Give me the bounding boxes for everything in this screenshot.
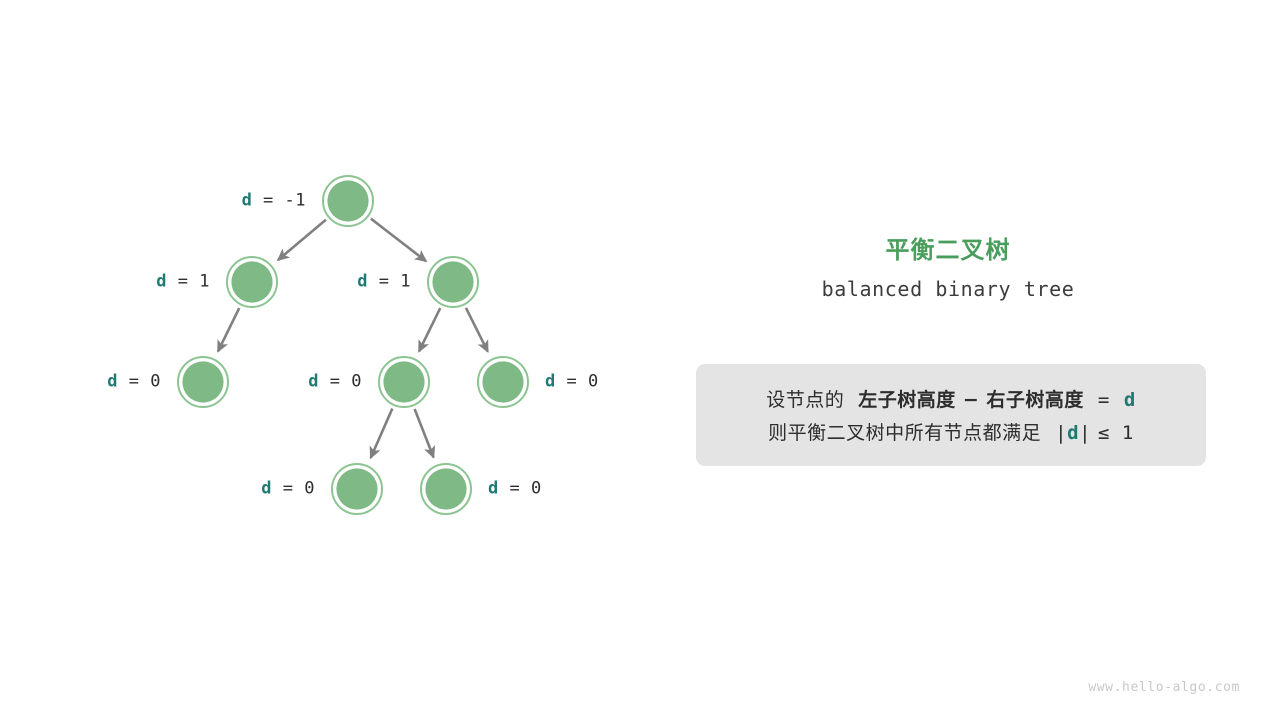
balance-symbol-d: d [488, 479, 499, 499]
edge-layer [218, 219, 488, 458]
abs-bar-close: | [1079, 422, 1091, 444]
definition-box: 设节点的左子树高度 − 右子树高度=d 则平衡二叉树中所有节点都满足|d|≤ 1 [696, 364, 1206, 466]
balance-value: = 0 [272, 479, 315, 499]
page-title: 平衡二叉树 [660, 230, 1236, 265]
balance-symbol-d: d [156, 272, 167, 292]
node-disc [231, 261, 272, 302]
tree-edge [218, 308, 239, 351]
balance-value: = 1 [167, 272, 210, 292]
balance-value: = 1 [368, 272, 411, 292]
node-disc [336, 468, 377, 509]
node-balance-label: d = 0 [545, 374, 599, 391]
tree-edge [371, 409, 393, 458]
balance-value: = 0 [118, 372, 161, 392]
abs-bar-open: | [1055, 422, 1067, 444]
node-balance-label: d = -1 [242, 193, 306, 210]
balance-symbol-d: d [357, 272, 368, 292]
tree-edge [419, 308, 440, 351]
node-balance-label: d = 0 [107, 374, 161, 391]
tree-node[interactable] [227, 257, 277, 307]
tree-node[interactable] [332, 464, 382, 514]
balance-symbol-d: d [308, 372, 319, 392]
tree-edge [466, 308, 488, 352]
node-disc [182, 361, 223, 402]
tree-node[interactable] [379, 357, 429, 407]
node-disc [432, 261, 473, 302]
balance-symbol-d: d [261, 479, 272, 499]
node-layer [178, 176, 528, 514]
node-balance-label: d = 0 [261, 481, 315, 498]
node-disc [482, 361, 523, 402]
tree-node[interactable] [421, 464, 471, 514]
watermark: www.hello-algo.com [1088, 680, 1240, 695]
node-balance-label: d = 1 [156, 274, 210, 291]
node-balance-label: d = 0 [488, 481, 542, 498]
tree-edge [415, 409, 434, 457]
definition-prefix-2: 则平衡二叉树中所有节点都满足 [768, 422, 1041, 444]
tree-node[interactable] [428, 257, 478, 307]
balance-symbol-d: d [545, 372, 556, 392]
node-balance-label: d = 1 [357, 274, 411, 291]
balance-value: = 0 [499, 479, 542, 499]
node-disc [425, 468, 466, 509]
definition-symbol-d-2: d [1067, 422, 1079, 444]
definition-line-2: 则平衡二叉树中所有节点都满足|d|≤ 1 [696, 417, 1206, 450]
tree-graphic [0, 0, 660, 720]
caption-panel: 平衡二叉树 balanced binary tree 设节点的左子树高度 − 右… [660, 0, 1280, 720]
balance-value: = -1 [252, 191, 306, 211]
node-balance-label: d = 0 [308, 374, 362, 391]
tree-node[interactable] [323, 176, 373, 226]
definition-line-1: 设节点的左子树高度 − 右子树高度=d [696, 384, 1206, 417]
tree-node[interactable] [178, 357, 228, 407]
definition-bold-term: 左子树高度 − 右子树高度 [858, 389, 1084, 411]
page-subtitle: balanced binary tree [660, 277, 1236, 301]
balance-symbol-d: d [242, 191, 253, 211]
tree-diagram: d = -1d = 1d = 1d = 0d = 0d = 0d = 0d = … [0, 0, 660, 720]
balance-value: = 0 [556, 372, 599, 392]
tree-edge [278, 220, 326, 260]
definition-symbol-d-1: d [1124, 389, 1136, 411]
node-disc [383, 361, 424, 402]
balance-symbol-d: d [107, 372, 118, 392]
tree-edge [371, 219, 426, 262]
balance-value: = 0 [319, 372, 362, 392]
definition-relation: ≤ 1 [1098, 422, 1134, 444]
definition-prefix-1: 设节点的 [766, 389, 844, 411]
tree-node[interactable] [478, 357, 528, 407]
definition-equals: = [1098, 389, 1110, 411]
node-disc [327, 180, 368, 221]
